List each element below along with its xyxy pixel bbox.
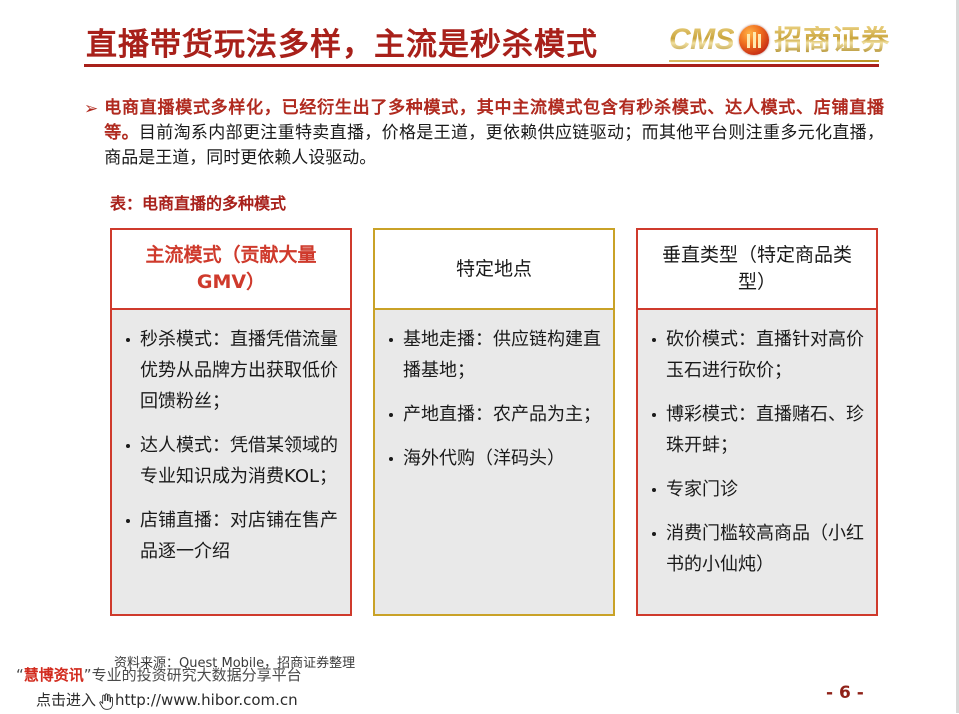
list-item: 达人模式：凭借某领域的专业知识成为消费KOL； <box>124 430 338 492</box>
watermark-brand: 慧博资讯 <box>24 666 84 684</box>
list-item: 博彩模式：直播赌石、珍珠开蚌； <box>650 399 864 461</box>
intro-paragraph-row: ➢ 电商直播模式多样化，已经衍生出了多种模式，其中主流模式包含有秒杀模式、达人模… <box>84 96 884 171</box>
list-item: 基地走播：供应链构建直播基地； <box>387 324 601 386</box>
list-item: 店铺直播：对店铺在售产品逐一介绍 <box>124 505 338 567</box>
slide-header: 直播带货玩法多样，主流是秒杀模式 CMS 招商证券 <box>0 0 959 72</box>
list-item: 海外代购（洋码头） <box>387 443 601 474</box>
mode-column-mainstream: 主流模式（贡献大量GMV） 秒杀模式：直播凭借流量优势从品牌方出获取低价回馈粉丝… <box>110 228 352 616</box>
cms-logo: CMS 招商证券 <box>669 22 890 58</box>
list-item: 产地直播：农产品为主； <box>387 399 601 430</box>
list-item: 专家门诊 <box>650 474 864 505</box>
watermark-cta-label: 点击进入 <box>36 689 96 710</box>
watermark-tagline: “慧博资讯”专业的投资研究大数据分享平台 <box>16 664 302 685</box>
slide-canvas: 直播带货玩法多样，主流是秒杀模式 CMS 招商证券 ➢ 电商直播模式多样化，已经… <box>0 0 959 713</box>
mode-item-list: 基地走播：供应链构建直播基地； 产地直播：农产品为主； 海外代购（洋码头） <box>387 324 601 474</box>
watermark-link-row[interactable]: 点击进入 http://www.hibor.com.cn <box>36 689 298 710</box>
logo-underline-rule <box>669 60 879 62</box>
intro-paragraph-rest: 目前淘系内部更注重特卖直播，价格是王道，更依赖供应链驱动；而其他平台则注重多元化… <box>104 123 884 168</box>
mode-columns-container: 主流模式（贡献大量GMV） 秒杀模式：直播凭借流量优势从品牌方出获取低价回馈粉丝… <box>110 228 878 616</box>
mode-item-list: 砍价模式：直播针对高价玉石进行砍价； 博彩模式：直播赌石、珍珠开蚌； 专家门诊 … <box>650 324 864 580</box>
table-caption: 表：电商直播的多种模式 <box>110 190 286 214</box>
mode-column-header-location: 特定地点 <box>373 228 615 310</box>
watermark-quote-close: ” <box>84 666 92 684</box>
intro-paragraph-text: 电商直播模式多样化，已经衍生出了多种模式，其中主流模式包含有秒杀模式、达人模式、… <box>104 96 884 171</box>
arrow-bullet-icon: ➢ <box>84 96 98 121</box>
mode-column-location: 特定地点 基地走播：供应链构建直播基地； 产地直播：农产品为主； 海外代购（洋码… <box>373 228 615 616</box>
mode-column-vertical: 垂直类型（特定商品类型） 砍价模式：直播针对高价玉石进行砍价； 博彩模式：直播赌… <box>636 228 878 616</box>
cms-circular-emblem-icon <box>739 25 769 55</box>
mode-column-header-text: 垂直类型（特定商品类型） <box>648 242 866 296</box>
hand-cursor-icon <box>98 693 113 710</box>
mode-column-header-vertical: 垂直类型（特定商品类型） <box>636 228 878 310</box>
mode-column-header-text: 特定地点 <box>456 256 532 283</box>
mode-column-header-text: 主流模式（贡献大量GMV） <box>122 242 340 296</box>
mode-column-body-mainstream: 秒杀模式：直播凭借流量优势从品牌方出获取低价回馈粉丝； 达人模式：凭借某领域的专… <box>110 310 352 616</box>
watermark-url[interactable]: http://www.hibor.com.cn <box>115 691 298 709</box>
watermark-quote-open: “ <box>16 666 24 684</box>
mode-item-list: 秒杀模式：直播凭借流量优势从品牌方出获取低价回馈粉丝； 达人模式：凭借某领域的专… <box>124 324 338 567</box>
watermark-tagline-text: 专业的投资研究大数据分享平台 <box>92 666 302 684</box>
mode-column-header-mainstream: 主流模式（贡献大量GMV） <box>110 228 352 310</box>
list-item: 砍价模式：直播针对高价玉石进行砍价； <box>650 324 864 386</box>
page-number: - 6 - <box>826 683 864 703</box>
logo-chinese-text: 招商证券 <box>774 26 890 54</box>
list-item: 消费门槛较高商品（小红书的小仙炖） <box>650 518 864 580</box>
intro-paragraph-block: ➢ 电商直播模式多样化，已经衍生出了多种模式，其中主流模式包含有秒杀模式、达人模… <box>84 96 884 171</box>
mode-column-body-vertical: 砍价模式：直播针对高价玉石进行砍价； 博彩模式：直播赌石、珍珠开蚌； 专家门诊 … <box>636 310 878 616</box>
title-underline-rule <box>84 64 879 67</box>
page-title: 直播带货玩法多样，主流是秒杀模式 <box>86 19 598 64</box>
mode-column-body-location: 基地走播：供应链构建直播基地； 产地直播：农产品为主； 海外代购（洋码头） <box>373 310 615 616</box>
list-item: 秒杀模式：直播凭借流量优势从品牌方出获取低价回馈粉丝； <box>124 324 338 417</box>
logo-latin-text: CMS <box>669 25 734 55</box>
